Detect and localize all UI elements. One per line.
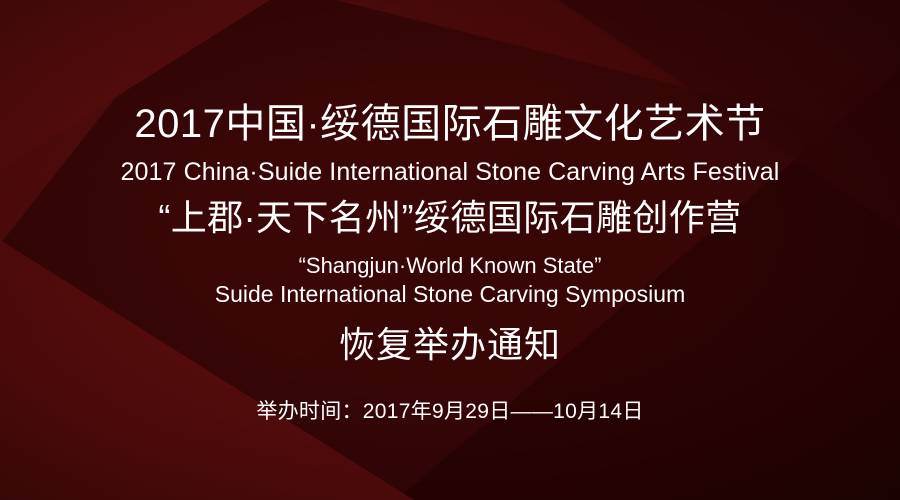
symposium-subtitle-english: Suide International Stone Carving Sympos… [0, 281, 900, 307]
event-poster: 2017中国·绥德国际石雕文化艺术节 2017 China·Suide Inte… [0, 0, 900, 500]
poster-text-content: 2017中国·绥德国际石雕文化艺术节 2017 China·Suide Inte… [0, 0, 900, 500]
symposium-subtitle-chinese: “上郡·天下名州”绥德国际石雕创作营 [0, 199, 900, 238]
festival-title-english: 2017 China·Suide International Stone Car… [0, 159, 900, 187]
symposium-slogan-english: “Shangjun·World Known State” [0, 253, 900, 278]
event-date-line: 举办时间：2017年9月29日——10月14日 [0, 399, 900, 424]
festival-title-chinese: 2017中国·绥德国际石雕文化艺术节 [0, 103, 900, 145]
notice-heading: 恢复举办通知 [0, 325, 900, 365]
